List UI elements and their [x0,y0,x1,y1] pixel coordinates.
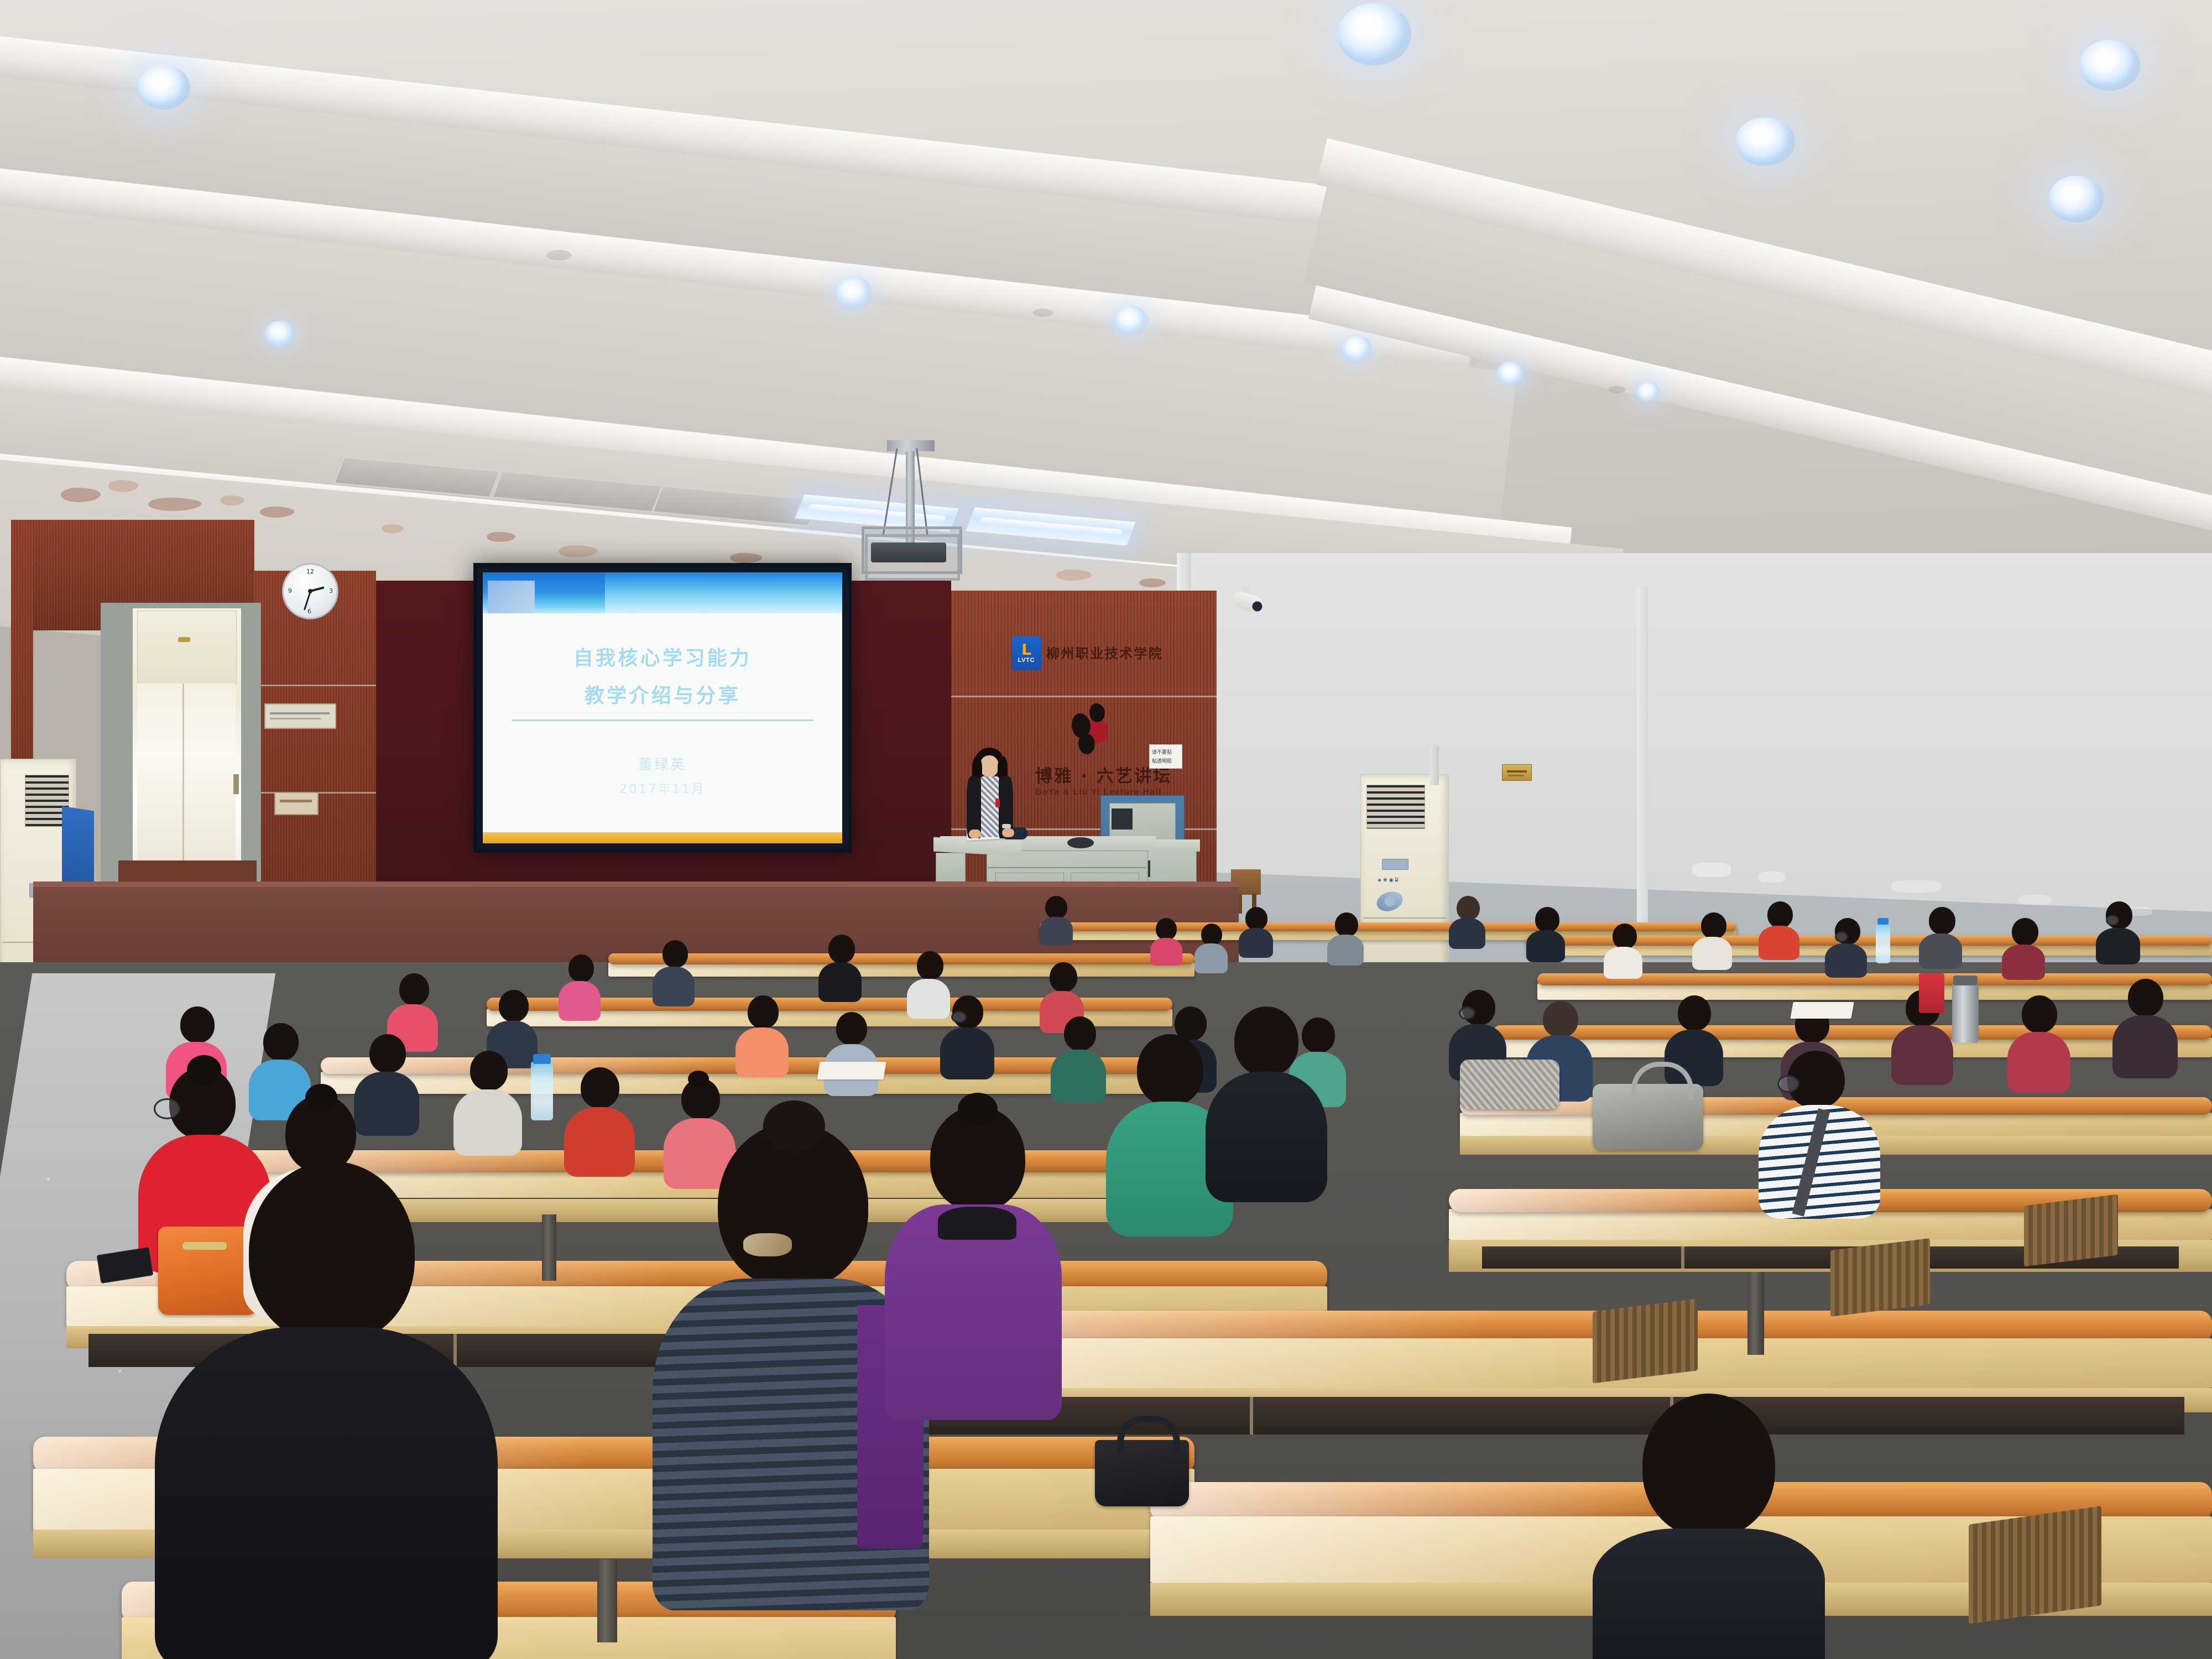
slide-body: 自我核心学习能力 教学介绍与分享 董绿英 2017年11月 [483,613,842,844]
head [581,1067,619,1108]
hair-bun [187,1055,221,1085]
torso [1051,1050,1106,1103]
torso [1150,938,1182,966]
torso [1194,943,1228,973]
air-conditioner-right-seam [1363,917,1446,919]
audience-member [1604,924,1642,977]
slide-title-line2: 教学介绍与分享 [483,680,842,708]
audience-member [1194,924,1228,972]
projector-cage-front [865,534,960,581]
torso [1593,1528,1825,1659]
notes-on-desk-2 [1790,1002,1854,1019]
torso [1526,930,1565,962]
desk-row-2b [1537,973,2212,1013]
torso [735,1027,789,1077]
clock-tick-3: 3 [329,587,333,594]
notice-sign-line1: 请不要贴 [1152,748,1172,755]
banner-seam-top [951,696,1217,697]
head [1064,1016,1096,1051]
audience-member [1206,1006,1327,1200]
lecturer-wristwatch [1002,824,1011,828]
head [1929,907,1955,935]
torso [2002,945,2045,980]
clock-center-pin [308,589,312,593]
audience-member [1825,918,1867,975]
head [1201,924,1222,946]
torso [559,981,601,1021]
head [399,973,429,1005]
head [1678,995,1711,1031]
chair-back-slats [1830,1238,1930,1317]
audience-member [1040,896,1073,943]
eyeglasses-icon [1777,1075,1799,1093]
slide-title-line1: 自我核心学习能力 [483,642,842,671]
projector-ceiling-plate [887,440,935,451]
head [836,1012,867,1045]
head [2022,995,2057,1033]
head [1642,1394,1775,1537]
head [1245,907,1267,930]
desk-shelf-divider [1250,1397,1253,1434]
lvtc-logo-mark: L [1021,643,1031,656]
projector-wire-2 [916,448,928,536]
notice-sign: 请不要贴 粘透明胶 [1149,744,1182,769]
stage-floor-edge [33,881,1239,887]
audience-member [2096,901,2140,962]
air-conditioner-right-badge: ◈ ❀ ◉ ⌸ [1378,878,1398,883]
wall-clock: 12 3 6 9 [282,563,338,619]
torso [1919,933,1962,969]
slide-bottom-strip [483,832,842,843]
downlight-9 [1496,362,1525,386]
audience-member [1449,896,1485,947]
audience-member [1051,1016,1106,1102]
audience-member [1593,1394,1825,1659]
collar-dark [938,1207,1016,1240]
hair-bun [688,1071,709,1087]
chair-back-slats [1593,1298,1698,1383]
head [662,940,688,968]
downlight-11 [1636,382,1660,403]
audience-member [1150,918,1182,964]
torso [2096,928,2140,964]
ac-right-pipe [1430,747,1439,785]
corridor-floor [137,684,236,864]
clock-tick-12: 12 [306,568,314,575]
audience-member [155,1161,498,1659]
head [2128,979,2163,1016]
ceiling-vent-2-icon [1033,309,1053,317]
downlight-1 [137,65,190,109]
head [1045,896,1067,919]
desk-support-leg [597,1559,617,1642]
head [249,1161,415,1344]
desk-support-leg [1747,1272,1764,1355]
wall-sign-lower-line [280,800,312,802]
lectern-podium-line [988,867,1146,868]
lecturer-hand-right [1002,828,1014,837]
ac-left-blue-cloth [62,806,94,889]
torso [1891,1025,1953,1085]
air-conditioner-right-display [1382,859,1408,870]
lecture-hall-photo: 12 3 6 9 自我核心学习能力 教学介绍与分享 董绿 [0,0,2212,1659]
slide-header-band-right [605,572,842,613]
torso [1449,918,1485,949]
wall-plaque-text [1507,770,1527,773]
downlight-10 [264,321,295,347]
security-camera-lens [1251,600,1264,613]
air-conditioner-right-grille [1366,785,1425,829]
water-bottle-1 [531,1062,553,1120]
wall-scuff-3 [1891,880,1941,893]
projector-wire-1 [883,448,898,536]
head [1543,1001,1578,1037]
thermos-flask [1952,983,1979,1043]
lecturer-hand-left [969,830,981,838]
head [1701,912,1726,939]
water-bottle-1-cap [533,1054,551,1064]
torso [653,967,695,1006]
audience-member [735,995,789,1076]
audience-member [1526,907,1565,960]
head [568,954,594,982]
audience-member [824,1012,878,1095]
door-handle-icon[interactable] [178,637,190,642]
right-wall-upper [1178,553,2212,912]
lecturer-at-podium [960,748,1021,842]
downlight-3 [1735,117,1795,166]
audience-member [653,940,695,1004]
downlight-5 [2079,40,2140,91]
wall-sign-upper-line2 [270,718,321,719]
wood-panel-seam-1 [250,685,376,686]
hair-clip-icon [743,1233,792,1256]
institution-name-cn: 柳州职业技术学院 [1046,643,1163,662]
torso [1040,917,1073,946]
handbag-black-handle [1117,1416,1180,1454]
desk-surface [1537,983,2212,1000]
audience-member [818,935,862,1000]
hair-bun [958,1093,998,1126]
notes-on-desk-1 [817,1062,886,1079]
audience-member [1759,901,1799,958]
bench-seatback [1493,1025,2212,1040]
bench-seatback [608,953,1194,964]
eyeglasses-icon [1459,1006,1475,1020]
head [1767,901,1793,928]
audience-member [940,995,994,1078]
hair-bun [305,1084,337,1112]
corridor-door-leaf[interactable] [137,611,237,685]
projection-screen-frame: 自我核心学习能力 教学介绍与分享 董绿英 2017年11月 [473,563,852,853]
wall-scuff-1 [1692,863,1731,877]
security-camera-body [1230,589,1266,615]
torso [2007,1032,2070,1093]
chair-back-slats [1969,1506,2101,1624]
torso [453,1089,522,1156]
security-camera [1229,586,1272,618]
hall-name-sub: · · · · · · [1042,802,1065,808]
head [1535,907,1559,932]
notice-sign-line2: 粘透明胶 [1152,757,1172,764]
wood-panel-left [250,571,376,914]
torso [2112,1015,2178,1078]
downlight-4 [2048,176,2104,222]
clock-tick-9: 9 [288,587,292,594]
wall-plaque-text2 [1508,775,1524,776]
head [1613,924,1637,949]
right-wall-pillar-2 [1637,586,1648,940]
torso [1692,937,1732,970]
audience-member [1692,912,1732,968]
audience-member [1759,1051,1880,1217]
slide-presenter-name: 董绿英 [483,754,842,774]
torso [1825,943,1867,978]
handbag-silver [1460,1060,1559,1109]
audience-member [1919,907,1962,967]
head [369,1034,406,1073]
wall-sign-lower [274,792,319,815]
torso [155,1327,498,1659]
air-conditioner-right-sticker [1374,888,1405,914]
desk-support-leg [542,1214,556,1281]
doorway-hinge [233,774,239,794]
torso [564,1107,635,1177]
eyeglasses-icon [154,1098,180,1119]
wall-sign-upper-line [270,712,330,714]
lecturer-face [980,755,999,778]
ceiling-vent-3-icon [1608,386,1626,393]
projection-screen: 自我核心学习能力 教学介绍与分享 董绿英 2017年11月 [483,572,842,843]
water-bottle-2 [1876,924,1890,963]
torso [1327,935,1364,966]
chair-back-slats [2024,1194,2118,1267]
head [1457,896,1480,920]
head [917,951,943,980]
torso [1759,926,1799,960]
seal-ink-stroke-2 [1089,703,1105,722]
head [1156,918,1177,940]
wall-scuff-2 [1759,872,1785,883]
calligraphy-seal-art [1066,702,1114,755]
head [2012,918,2038,946]
torso [940,1027,994,1079]
troffer-5-tube [979,517,1123,535]
head [1234,1006,1298,1076]
red-cup [1919,973,1944,1013]
downlight-2 [1337,3,1411,65]
slide-date: 2017年11月 [483,779,842,797]
head [180,1006,215,1043]
eyeglasses-icon [951,1011,967,1023]
head [1335,912,1358,937]
lecturer-name-badge [995,799,1000,807]
corridor-floor-seam [182,684,184,864]
audience-member [1239,907,1273,956]
wall-scuff-4 [2018,895,2052,905]
audience-member [1327,912,1364,963]
wall-plaque [1502,764,1532,781]
podium-cable-opening [1067,837,1094,848]
torso [818,962,862,1002]
head [499,990,529,1022]
torso [1206,1072,1327,1202]
downlight-7 [1113,305,1148,335]
head [1137,1034,1203,1106]
thermos-flask-cap [1953,975,1978,985]
water-bottle-2-cap [1877,918,1888,925]
audience-member [885,1106,1062,1416]
torso [1604,947,1642,979]
torso [1239,928,1273,958]
lvtc-logo: L LVTC [1011,636,1041,670]
audience-member [453,1051,522,1156]
clock-tick-6: 6 [307,608,311,615]
audience-member [564,1067,635,1177]
slide-divider-rule [512,719,813,721]
hair-bun [763,1100,825,1151]
ceiling-projector [841,431,979,614]
head [470,1051,508,1091]
eyeglasses-icon [1835,931,1848,942]
wall-sign-upper [264,703,336,729]
cabinet-blue-opening [1112,808,1133,830]
head [263,1023,299,1061]
downlight-6 [834,276,873,310]
lvtc-logo-text: LVTC [1018,657,1035,664]
audience-member [559,954,601,1019]
audience-member [2007,995,2070,1093]
desk-row-2 [608,953,1194,990]
seal-ink-stroke-3 [1078,733,1095,754]
downlight-8 [1340,335,1373,363]
ceiling-vent-1-icon [546,250,572,260]
eyeglasses-icon [2106,915,2119,926]
audience-member [2112,979,2178,1078]
desk-shelf-divider [1681,1246,1684,1269]
audience-member [2002,918,2045,978]
